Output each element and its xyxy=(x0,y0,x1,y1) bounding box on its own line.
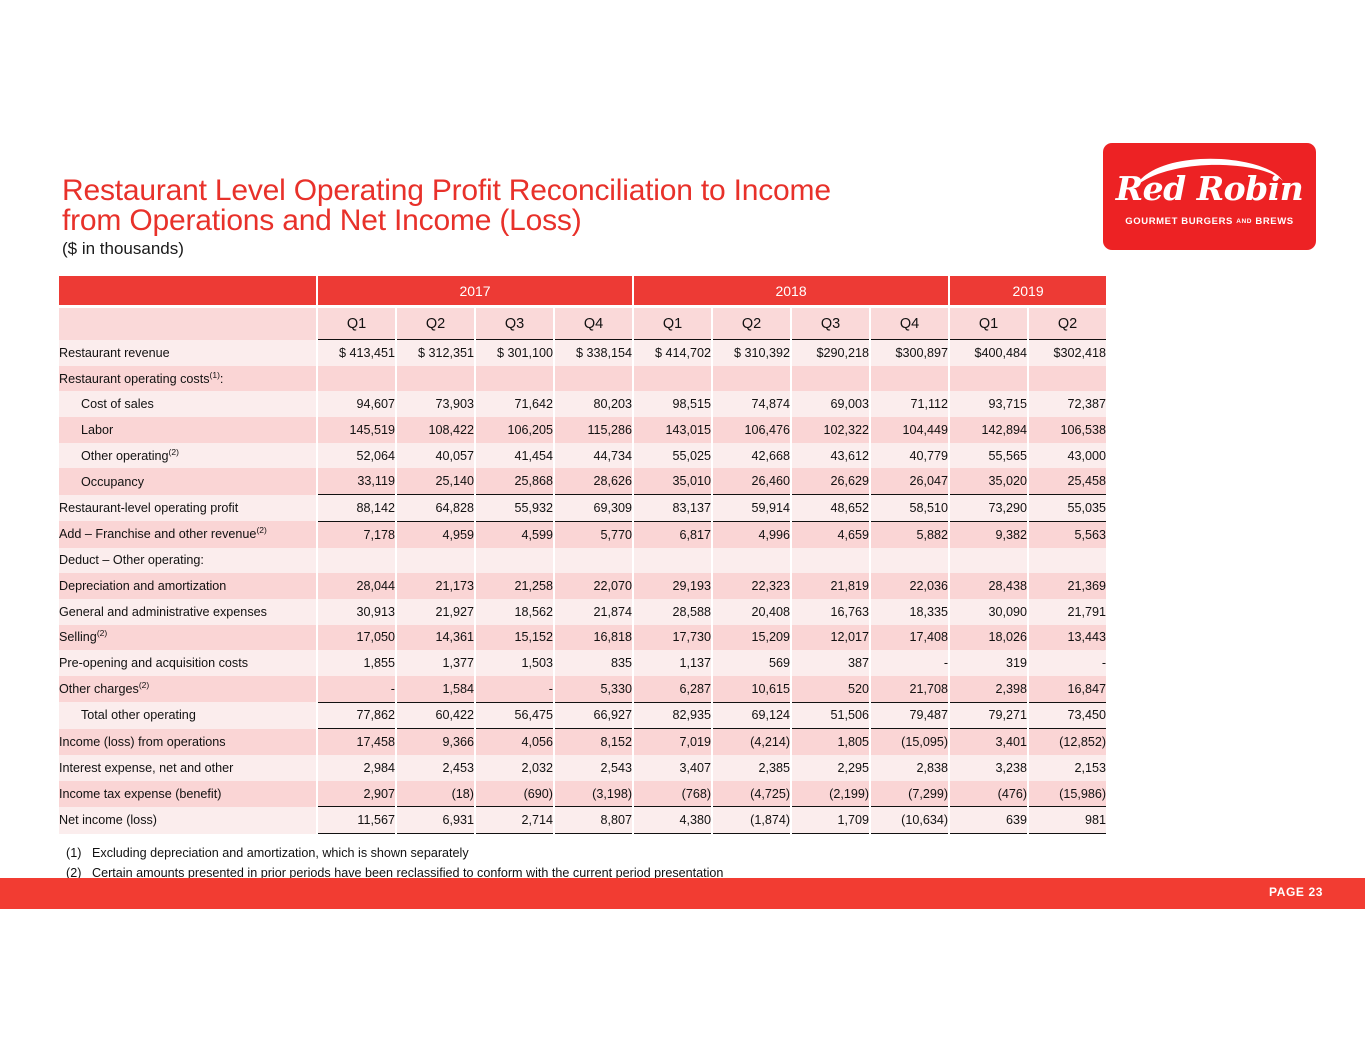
cell-r8-c1: 7,178 xyxy=(317,521,396,547)
row-label: Income tax expense (benefit) xyxy=(58,781,317,807)
cell-r5-c1: 52,064 xyxy=(317,443,396,469)
quarter-header-6-Q2: Q2 xyxy=(712,307,791,340)
cell-r18-c3: (690) xyxy=(475,781,554,807)
table-row: Occupancy33,11925,14025,86828,62635,0102… xyxy=(58,468,1107,494)
row-label: Restaurant revenue xyxy=(58,340,317,366)
footnotes: (1)Excluding depreciation and amortizati… xyxy=(66,843,723,883)
page-title: Restaurant Level Operating Profit Reconc… xyxy=(62,176,982,236)
cell-r1-c7: $290,218 xyxy=(791,340,870,366)
cell-r13-c3: 1,503 xyxy=(475,650,554,676)
cell-r14-c1: - xyxy=(317,676,396,702)
row-label: Interest expense, net and other xyxy=(58,755,317,781)
row-label: Labor xyxy=(58,417,317,443)
cell-r1-c4: $ 338,154 xyxy=(554,340,633,366)
cell-r2-c5 xyxy=(633,366,712,392)
cell-r1-c8: $300,897 xyxy=(870,340,949,366)
cell-r4-c7: 102,322 xyxy=(791,417,870,443)
table-row: Pre-opening and acquisition costs1,8551,… xyxy=(58,650,1107,676)
quarter-header-9-Q1: Q1 xyxy=(949,307,1028,340)
cell-r11-c7: 16,763 xyxy=(791,599,870,625)
table-row: Deduct – Other operating: xyxy=(58,548,1107,574)
logo-tagline: GOURMET BURGERS AND BREWS xyxy=(1103,216,1316,227)
cell-r11-c6: 20,408 xyxy=(712,599,791,625)
footnote-marker: (2) xyxy=(97,628,107,638)
table-row: Interest expense, net and other2,9842,45… xyxy=(58,755,1107,781)
cell-r11-c3: 18,562 xyxy=(475,599,554,625)
cell-r6-c5: 35,010 xyxy=(633,468,712,494)
cell-r3-c3: 71,642 xyxy=(475,391,554,417)
cell-r17-c2: 2,453 xyxy=(396,755,475,781)
cell-r7-c9: 73,290 xyxy=(949,495,1028,522)
footnote-item: (1)Excluding depreciation and amortizati… xyxy=(66,843,723,863)
cell-r12-c10: 13,443 xyxy=(1028,625,1107,651)
cell-r19-c4: 8,807 xyxy=(554,807,633,834)
table-row: Other charges(2)-1,584-5,3306,28710,6155… xyxy=(58,676,1107,702)
cell-r11-c2: 21,927 xyxy=(396,599,475,625)
cell-r3-c4: 80,203 xyxy=(554,391,633,417)
cell-r18-c9: (476) xyxy=(949,781,1028,807)
cell-r15-c3: 56,475 xyxy=(475,702,554,729)
footnote-marker: (2) xyxy=(256,525,266,535)
cell-r12-c2: 14,361 xyxy=(396,625,475,651)
table-row: Income (loss) from operations17,4589,366… xyxy=(58,729,1107,755)
cell-r10-c2: 21,173 xyxy=(396,573,475,599)
cell-r16-c5: 7,019 xyxy=(633,729,712,755)
cell-r2-c3 xyxy=(475,366,554,392)
table-head: 201720182019 Q1Q2Q3Q4Q1Q2Q3Q4Q1Q2 xyxy=(58,276,1107,340)
cell-r1-c3: $ 301,100 xyxy=(475,340,554,366)
row-label: Income (loss) from operations xyxy=(58,729,317,755)
year-header-2018: 2018 xyxy=(633,276,949,307)
cell-r1-c9: $400,484 xyxy=(949,340,1028,366)
cell-r12-c5: 17,730 xyxy=(633,625,712,651)
cell-r8-c9: 9,382 xyxy=(949,521,1028,547)
row-label: Cost of sales xyxy=(58,391,317,417)
cell-r3-c9: 93,715 xyxy=(949,391,1028,417)
cell-r18-c2: (18) xyxy=(396,781,475,807)
cell-r3-c5: 98,515 xyxy=(633,391,712,417)
cell-r19-c5: 4,380 xyxy=(633,807,712,834)
cell-r10-c4: 22,070 xyxy=(554,573,633,599)
row-label: Pre-opening and acquisition costs xyxy=(58,650,317,676)
cell-r16-c3: 4,056 xyxy=(475,729,554,755)
cell-r13-c6: 569 xyxy=(712,650,791,676)
cell-r6-c4: 28,626 xyxy=(554,468,633,494)
cell-r1-c5: $ 414,702 xyxy=(633,340,712,366)
cell-r8-c3: 4,599 xyxy=(475,521,554,547)
cell-r4-c8: 104,449 xyxy=(870,417,949,443)
cell-r19-c8: (10,634) xyxy=(870,807,949,834)
cell-r9-c5 xyxy=(633,548,712,574)
cell-r16-c7: 1,805 xyxy=(791,729,870,755)
cell-r3-c10: 72,387 xyxy=(1028,391,1107,417)
cell-r9-c7 xyxy=(791,548,870,574)
cell-r6-c9: 35,020 xyxy=(949,468,1028,494)
cell-r5-c10: 43,000 xyxy=(1028,443,1107,469)
cell-r15-c4: 66,927 xyxy=(554,702,633,729)
title-block: Restaurant Level Operating Profit Reconc… xyxy=(62,176,982,258)
table-row: Selling(2)17,05014,36115,15216,81817,730… xyxy=(58,625,1107,651)
cell-r3-c1: 94,607 xyxy=(317,391,396,417)
cell-r8-c6: 4,996 xyxy=(712,521,791,547)
tagline-left: GOURMET BURGERS xyxy=(1125,216,1233,227)
table-row: Restaurant revenue$ 413,451$ 312,351$ 30… xyxy=(58,340,1107,366)
red-robin-logo: Red Robin GOURMET BURGERS AND BREWS xyxy=(1103,143,1316,250)
table-row: Labor145,519108,422106,205115,286143,015… xyxy=(58,417,1107,443)
cell-r10-c1: 28,044 xyxy=(317,573,396,599)
cell-r14-c5: 6,287 xyxy=(633,676,712,702)
cell-r12-c6: 15,209 xyxy=(712,625,791,651)
cell-r19-c7: 1,709 xyxy=(791,807,870,834)
footnote-number: (1) xyxy=(66,843,92,863)
quarter-header-3-Q3: Q3 xyxy=(475,307,554,340)
cell-r2-c1 xyxy=(317,366,396,392)
cell-r13-c1: 1,855 xyxy=(317,650,396,676)
cell-r5-c9: 55,565 xyxy=(949,443,1028,469)
footnote-marker: (1) xyxy=(210,369,220,379)
cell-r10-c5: 29,193 xyxy=(633,573,712,599)
cell-r11-c1: 30,913 xyxy=(317,599,396,625)
quarter-header-1-Q1: Q1 xyxy=(317,307,396,340)
cell-r15-c5: 82,935 xyxy=(633,702,712,729)
row-label: Other charges(2) xyxy=(58,676,317,702)
cell-r19-c10: 981 xyxy=(1028,807,1107,834)
cell-r5-c4: 44,734 xyxy=(554,443,633,469)
cell-r13-c5: 1,137 xyxy=(633,650,712,676)
cell-r6-c2: 25,140 xyxy=(396,468,475,494)
cell-r4-c3: 106,205 xyxy=(475,417,554,443)
row-label: Selling(2) xyxy=(58,625,317,651)
cell-r18-c6: (4,725) xyxy=(712,781,791,807)
cell-r7-c7: 48,652 xyxy=(791,495,870,522)
cell-r2-c10 xyxy=(1028,366,1107,392)
cell-r19-c2: 6,931 xyxy=(396,807,475,834)
row-label: Depreciation and amortization xyxy=(58,573,317,599)
cell-r4-c10: 106,538 xyxy=(1028,417,1107,443)
cell-r8-c8: 5,882 xyxy=(870,521,949,547)
cell-r3-c7: 69,003 xyxy=(791,391,870,417)
cell-r6-c8: 26,047 xyxy=(870,468,949,494)
cell-r7-c1: 88,142 xyxy=(317,495,396,522)
year-header-2017: 2017 xyxy=(317,276,633,307)
cell-r11-c4: 21,874 xyxy=(554,599,633,625)
year-header-row: 201720182019 xyxy=(58,276,1107,307)
cell-r17-c6: 2,385 xyxy=(712,755,791,781)
row-label: Total other operating xyxy=(58,702,317,729)
table-row: Restaurant operating costs(1): xyxy=(58,366,1107,392)
cell-r11-c9: 30,090 xyxy=(949,599,1028,625)
cell-r2-c7 xyxy=(791,366,870,392)
table-body: Restaurant revenue$ 413,451$ 312,351$ 30… xyxy=(58,340,1107,834)
cell-r15-c6: 69,124 xyxy=(712,702,791,729)
cell-r14-c6: 10,615 xyxy=(712,676,791,702)
cell-r10-c9: 28,438 xyxy=(949,573,1028,599)
cell-r11-c8: 18,335 xyxy=(870,599,949,625)
cell-r14-c9: 2,398 xyxy=(949,676,1028,702)
footnote-marker: (2) xyxy=(169,446,179,456)
financial-table: 201720182019 Q1Q2Q3Q4Q1Q2Q3Q4Q1Q2 Restau… xyxy=(57,276,1108,834)
cell-r7-c10: 55,035 xyxy=(1028,495,1107,522)
cell-r17-c1: 2,984 xyxy=(317,755,396,781)
cell-r5-c2: 40,057 xyxy=(396,443,475,469)
footnote-text: Excluding depreciation and amortization,… xyxy=(92,846,469,860)
cell-r15-c7: 51,506 xyxy=(791,702,870,729)
cell-r5-c7: 43,612 xyxy=(791,443,870,469)
cell-r18-c8: (7,299) xyxy=(870,781,949,807)
cell-r9-c6 xyxy=(712,548,791,574)
cell-r16-c9: 3,401 xyxy=(949,729,1028,755)
row-label: Restaurant-level operating profit xyxy=(58,495,317,522)
cell-r12-c8: 17,408 xyxy=(870,625,949,651)
cell-r6-c1: 33,119 xyxy=(317,468,396,494)
cell-r9-c3 xyxy=(475,548,554,574)
cell-r9-c4 xyxy=(554,548,633,574)
table-row: Add – Franchise and other revenue(2)7,17… xyxy=(58,521,1107,547)
table-row: Income tax expense (benefit)2,907(18)(69… xyxy=(58,781,1107,807)
cell-r10-c6: 22,323 xyxy=(712,573,791,599)
cell-r1-c6: $ 310,392 xyxy=(712,340,791,366)
quarter-header-4-Q4: Q4 xyxy=(554,307,633,340)
logo-wordmark: Red Robin xyxy=(1103,169,1316,208)
cell-r19-c6: (1,874) xyxy=(712,807,791,834)
quarter-header-2-Q2: Q2 xyxy=(396,307,475,340)
cell-r1-c2: $ 312,351 xyxy=(396,340,475,366)
cell-r16-c6: (4,214) xyxy=(712,729,791,755)
cell-r7-c3: 55,932 xyxy=(475,495,554,522)
cell-r15-c2: 60,422 xyxy=(396,702,475,729)
quarter-header-row: Q1Q2Q3Q4Q1Q2Q3Q4Q1Q2 xyxy=(58,307,1107,340)
cell-r17-c7: 2,295 xyxy=(791,755,870,781)
cell-r18-c7: (2,199) xyxy=(791,781,870,807)
cell-r6-c3: 25,868 xyxy=(475,468,554,494)
cell-r16-c2: 9,366 xyxy=(396,729,475,755)
cell-r17-c3: 2,032 xyxy=(475,755,554,781)
table-row: Restaurant-level operating profit88,1426… xyxy=(58,495,1107,522)
footer-bar: PAGE 23 xyxy=(0,878,1365,909)
cell-r4-c5: 143,015 xyxy=(633,417,712,443)
table-row: General and administrative expenses30,91… xyxy=(58,599,1107,625)
row-label: Other operating(2) xyxy=(58,443,317,469)
cell-r16-c10: (12,852) xyxy=(1028,729,1107,755)
cell-r13-c8: - xyxy=(870,650,949,676)
cell-r18-c1: 2,907 xyxy=(317,781,396,807)
cell-r19-c9: 639 xyxy=(949,807,1028,834)
footnote-marker: (2) xyxy=(139,680,149,690)
cell-r11-c10: 21,791 xyxy=(1028,599,1107,625)
cell-r12-c3: 15,152 xyxy=(475,625,554,651)
page-number-label: PAGE 23 xyxy=(1269,885,1323,899)
cell-r9-c9 xyxy=(949,548,1028,574)
row-label: Net income (loss) xyxy=(58,807,317,834)
cell-r10-c7: 21,819 xyxy=(791,573,870,599)
cell-r7-c6: 59,914 xyxy=(712,495,791,522)
cell-r8-c7: 4,659 xyxy=(791,521,870,547)
cell-r3-c2: 73,903 xyxy=(396,391,475,417)
quarter-header-10-Q2: Q2 xyxy=(1028,307,1107,340)
cell-r18-c4: (3,198) xyxy=(554,781,633,807)
quarter-header-blank xyxy=(58,307,317,340)
cell-r12-c1: 17,050 xyxy=(317,625,396,651)
cell-r14-c10: 16,847 xyxy=(1028,676,1107,702)
cell-r4-c1: 145,519 xyxy=(317,417,396,443)
cell-r8-c5: 6,817 xyxy=(633,521,712,547)
cell-r2-c4 xyxy=(554,366,633,392)
cell-r1-c10: $302,418 xyxy=(1028,340,1107,366)
cell-r19-c1: 11,567 xyxy=(317,807,396,834)
year-header-2019: 2019 xyxy=(949,276,1107,307)
cell-r15-c10: 73,450 xyxy=(1028,702,1107,729)
cell-r12-c7: 12,017 xyxy=(791,625,870,651)
cell-r4-c2: 108,422 xyxy=(396,417,475,443)
cell-r8-c10: 5,563 xyxy=(1028,521,1107,547)
cell-r17-c9: 3,238 xyxy=(949,755,1028,781)
cell-r9-c10 xyxy=(1028,548,1107,574)
cell-r6-c6: 26,460 xyxy=(712,468,791,494)
row-label: Occupancy xyxy=(58,468,317,494)
table-row: Total other operating77,86260,42256,4756… xyxy=(58,702,1107,729)
row-label: Add – Franchise and other revenue(2) xyxy=(58,521,317,547)
quarter-header-8-Q4: Q4 xyxy=(870,307,949,340)
cell-r7-c8: 58,510 xyxy=(870,495,949,522)
cell-r15-c1: 77,862 xyxy=(317,702,396,729)
cell-r2-c8 xyxy=(870,366,949,392)
cell-r3-c6: 74,874 xyxy=(712,391,791,417)
cell-r17-c4: 2,543 xyxy=(554,755,633,781)
cell-r16-c8: (15,095) xyxy=(870,729,949,755)
cell-r10-c3: 21,258 xyxy=(475,573,554,599)
row-label: General and administrative expenses xyxy=(58,599,317,625)
cell-r12-c4: 16,818 xyxy=(554,625,633,651)
table-row: Depreciation and amortization28,04421,17… xyxy=(58,573,1107,599)
cell-r13-c2: 1,377 xyxy=(396,650,475,676)
table-row: Cost of sales94,60773,90371,64280,20398,… xyxy=(58,391,1107,417)
tagline-and: AND xyxy=(1236,218,1252,225)
cell-r17-c10: 2,153 xyxy=(1028,755,1107,781)
cell-r14-c2: 1,584 xyxy=(396,676,475,702)
quarter-header-7-Q3: Q3 xyxy=(791,307,870,340)
cell-r2-c2 xyxy=(396,366,475,392)
cell-r5-c8: 40,779 xyxy=(870,443,949,469)
cell-r9-c2 xyxy=(396,548,475,574)
cell-r18-c5: (768) xyxy=(633,781,712,807)
cell-r2-c9 xyxy=(949,366,1028,392)
cell-r19-c3: 2,714 xyxy=(475,807,554,834)
cell-r12-c9: 18,026 xyxy=(949,625,1028,651)
cell-r4-c4: 115,286 xyxy=(554,417,633,443)
cell-r16-c1: 17,458 xyxy=(317,729,396,755)
cell-r13-c9: 319 xyxy=(949,650,1028,676)
cell-r9-c1 xyxy=(317,548,396,574)
row-label: Restaurant operating costs(1): xyxy=(58,366,317,392)
cell-r2-c6 xyxy=(712,366,791,392)
cell-r4-c9: 142,894 xyxy=(949,417,1028,443)
quarter-header-5-Q1: Q1 xyxy=(633,307,712,340)
cell-r15-c9: 79,271 xyxy=(949,702,1028,729)
cell-r3-c8: 71,112 xyxy=(870,391,949,417)
cell-r14-c7: 520 xyxy=(791,676,870,702)
cell-r5-c3: 41,454 xyxy=(475,443,554,469)
cell-r4-c6: 106,476 xyxy=(712,417,791,443)
cell-r5-c6: 42,668 xyxy=(712,443,791,469)
cell-r18-c10: (15,986) xyxy=(1028,781,1107,807)
row-label: Deduct – Other operating: xyxy=(58,548,317,574)
tagline-right: BREWS xyxy=(1255,216,1293,227)
cell-r14-c3: - xyxy=(475,676,554,702)
cell-r11-c5: 28,588 xyxy=(633,599,712,625)
cell-r10-c8: 22,036 xyxy=(870,573,949,599)
table-row: Net income (loss)11,5676,9312,7148,8074,… xyxy=(58,807,1107,834)
cell-r13-c4: 835 xyxy=(554,650,633,676)
cell-r15-c8: 79,487 xyxy=(870,702,949,729)
cell-r10-c10: 21,369 xyxy=(1028,573,1107,599)
cell-r14-c4: 5,330 xyxy=(554,676,633,702)
cell-r13-c7: 387 xyxy=(791,650,870,676)
cell-r14-c8: 21,708 xyxy=(870,676,949,702)
cell-r17-c8: 2,838 xyxy=(870,755,949,781)
cell-r6-c7: 26,629 xyxy=(791,468,870,494)
cell-r1-c1: $ 413,451 xyxy=(317,340,396,366)
cell-r5-c5: 55,025 xyxy=(633,443,712,469)
year-header-blank xyxy=(58,276,317,307)
cell-r6-c10: 25,458 xyxy=(1028,468,1107,494)
cell-r8-c2: 4,959 xyxy=(396,521,475,547)
table-row: Other operating(2)52,06440,05741,45444,7… xyxy=(58,443,1107,469)
cell-r7-c2: 64,828 xyxy=(396,495,475,522)
page-subtitle: ($ in thousands) xyxy=(62,239,982,258)
cell-r7-c4: 69,309 xyxy=(554,495,633,522)
cell-r17-c5: 3,407 xyxy=(633,755,712,781)
cell-r7-c5: 83,137 xyxy=(633,495,712,522)
cell-r13-c10: - xyxy=(1028,650,1107,676)
cell-r16-c4: 8,152 xyxy=(554,729,633,755)
cell-r9-c8 xyxy=(870,548,949,574)
cell-r8-c4: 5,770 xyxy=(554,521,633,547)
